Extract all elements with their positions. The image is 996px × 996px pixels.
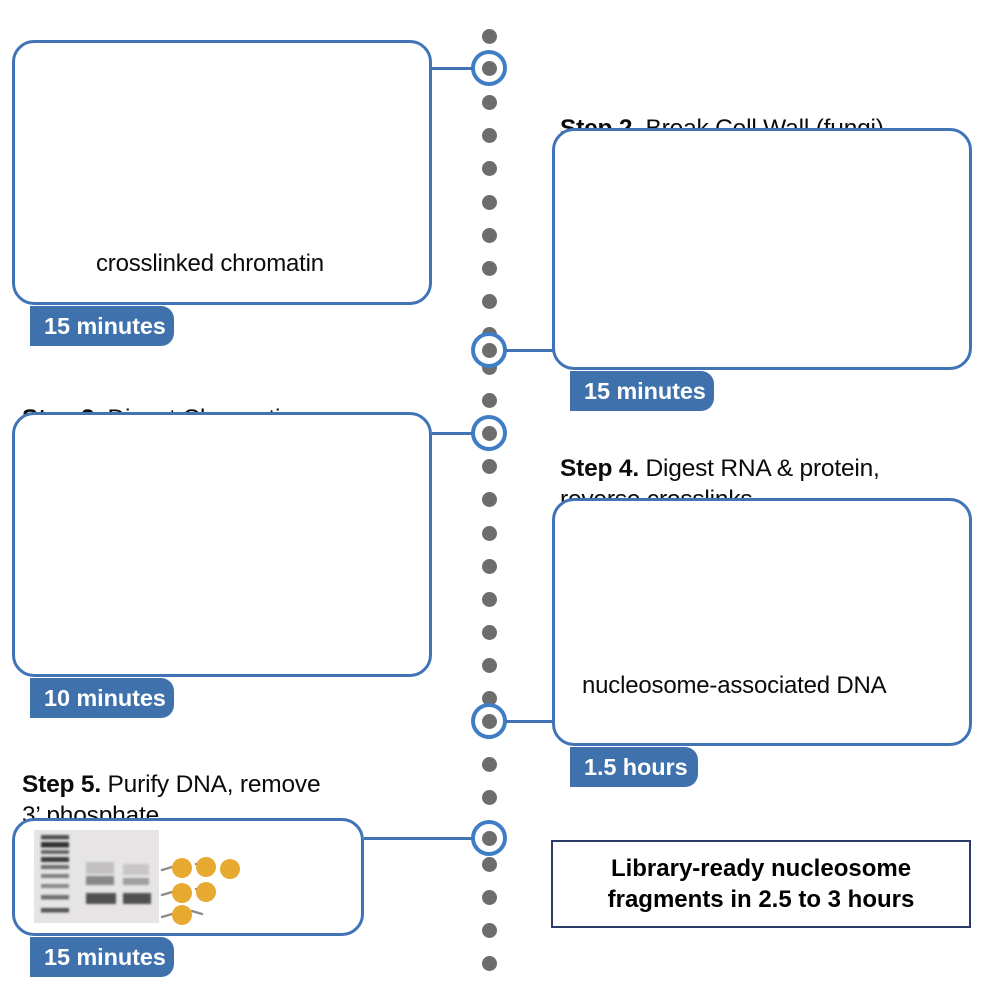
step-3-time-badge: 10 minutes (30, 678, 174, 718)
gel-svg (34, 830, 159, 923)
timeline-marker-core-step-1 (482, 61, 497, 76)
timeline-dot (482, 128, 497, 143)
step-4-time-text: 1.5 hours (584, 754, 688, 781)
timeline-dot (482, 95, 497, 110)
step-2-time-badge: 15 minutes (570, 371, 714, 411)
nucleosome-ladder-beads (160, 855, 250, 927)
timeline-dot (482, 492, 497, 507)
timeline-dot (482, 559, 497, 574)
step-4-panel (552, 498, 972, 746)
connector-step-4 (505, 720, 554, 723)
timeline-dot (482, 459, 497, 474)
gel-electrophoresis-image (34, 830, 159, 923)
timeline-marker-core-step-4 (482, 714, 497, 729)
connector-step-1 (432, 67, 473, 70)
timeline-marker-core-step-3 (482, 426, 497, 441)
connector-step-3 (432, 432, 473, 435)
timeline-dot (482, 526, 497, 541)
connector-step-5 (364, 837, 473, 840)
result-box: Library-ready nucleosome fragments in 2.… (551, 840, 971, 928)
timeline-dot (482, 757, 497, 772)
timeline-dot (482, 890, 497, 905)
timeline-marker-core-step-5 (482, 831, 497, 846)
timeline-dot (482, 923, 497, 938)
step-3-time-text: 10 minutes (44, 685, 166, 712)
timeline-dot (482, 294, 497, 309)
step-1-time-text: 15 minutes (44, 313, 166, 340)
step-4-inner-label: nucleosome-associated DNA (582, 672, 886, 700)
timeline-dot (482, 658, 497, 673)
timeline-dot (482, 857, 497, 872)
timeline-dot (482, 261, 497, 276)
timeline-dot (482, 625, 497, 640)
step-5-time-text: 15 minutes (44, 944, 166, 971)
step-2-panel (552, 128, 972, 370)
step-4-time-badge: 1.5 hours (570, 747, 698, 787)
timeline-dot (482, 790, 497, 805)
step-1-time-badge: 15 minutes (30, 306, 174, 346)
step-2-time-text: 15 minutes (584, 378, 706, 405)
step-5-time-badge: 15 minutes (30, 937, 174, 977)
timeline-dot (482, 161, 497, 176)
timeline-dot (482, 228, 497, 243)
connector-step-2 (505, 349, 554, 352)
step-5-lead: Step 5. (22, 771, 101, 798)
timeline-dot (482, 956, 497, 971)
timeline-dot (482, 29, 497, 44)
result-text: Library-ready nucleosome fragments in 2.… (608, 853, 915, 915)
step-4-lead: Step 4. (560, 455, 639, 482)
timeline-marker-core-step-2 (482, 343, 497, 358)
timeline-dot (482, 592, 497, 607)
step-3-panel (12, 412, 432, 677)
timeline-dot (482, 195, 497, 210)
step-1-inner-label: crosslinked chromatin (96, 250, 324, 278)
timeline-dot (482, 393, 497, 408)
